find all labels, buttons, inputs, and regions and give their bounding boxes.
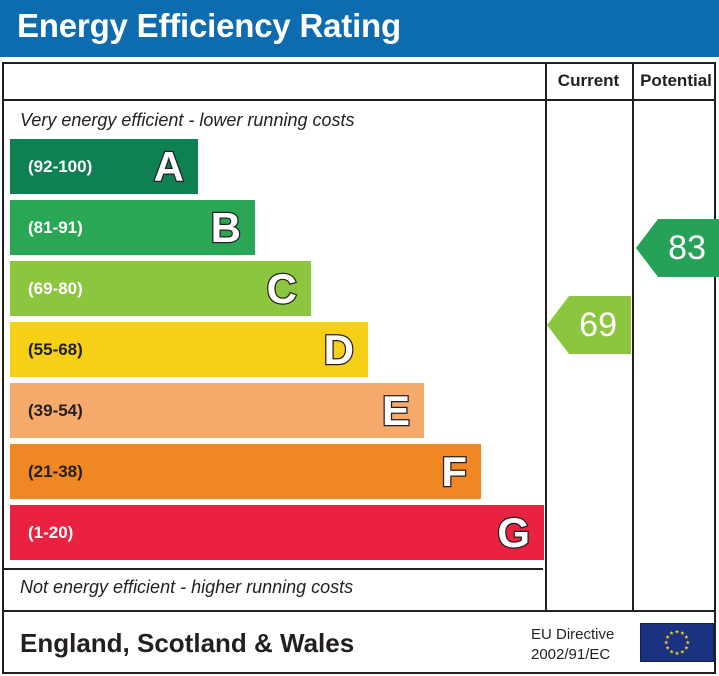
chart-footer: England, Scotland & Wales EU Directive 2…: [2, 610, 716, 674]
footer-region-label: England, Scotland & Wales: [20, 628, 354, 659]
rating-band-a: (92-100)A: [10, 139, 198, 194]
band-letter-f: F: [441, 451, 467, 493]
column-header-potential: Potential: [634, 71, 718, 91]
current-rating-arrow: 69: [547, 296, 631, 354]
column-header-current: Current: [545, 71, 632, 91]
band-letter-b: B: [211, 207, 241, 249]
current-column-divider: [545, 64, 547, 610]
band-letter-a: A: [154, 146, 184, 188]
page-title: Energy Efficiency Rating: [17, 7, 401, 45]
eu-directive-label: EU Directive 2002/91/EC: [531, 625, 614, 666]
rating-band-d: (55-68)D: [10, 322, 368, 377]
note-not-energy-efficient: Not energy efficient - higher running co…: [20, 577, 353, 598]
rating-bands: (92-100)A(81-91)B(69-80)C(55-68)D(39-54)…: [10, 139, 545, 565]
rating-band-g: (1-20)G: [10, 505, 544, 560]
band-range-f: (21-38): [28, 462, 83, 482]
chart-header-banner: Energy Efficiency Rating: [0, 0, 719, 57]
eu-flag-icon: [640, 623, 714, 662]
rating-band-e: (39-54)E: [10, 383, 424, 438]
eu-directive-line-2: 2002/91/EC: [531, 645, 614, 665]
rating-table: Current Potential Very energy efficient …: [2, 62, 716, 612]
eu-directive-line-1: EU Directive: [531, 625, 614, 645]
band-range-c: (69-80): [28, 279, 83, 299]
rating-band-f: (21-38)F: [10, 444, 481, 499]
band-letter-e: E: [382, 390, 410, 432]
band-letter-c: C: [267, 268, 297, 310]
bottom-note-divider: [4, 568, 543, 570]
potential-rating-value: 83: [668, 229, 706, 268]
band-range-d: (55-68): [28, 340, 83, 360]
band-range-e: (39-54): [28, 401, 83, 421]
band-range-g: (1-20): [28, 523, 73, 543]
header-row-divider: [4, 99, 714, 101]
band-range-a: (92-100): [28, 157, 92, 177]
note-very-energy-efficient: Very energy efficient - lower running co…: [20, 110, 355, 131]
band-letter-g: G: [497, 512, 530, 554]
potential-rating-arrow: 83: [636, 219, 719, 277]
potential-column-divider: [632, 64, 634, 610]
rating-band-c: (69-80)C: [10, 261, 311, 316]
energy-efficiency-rating-chart: Energy Efficiency Rating Current Potenti…: [0, 0, 719, 676]
rating-band-b: (81-91)B: [10, 200, 255, 255]
eu-flag-stars: [641, 624, 713, 661]
band-letter-d: D: [324, 329, 354, 371]
current-rating-value: 69: [579, 306, 617, 345]
band-range-b: (81-91): [28, 218, 83, 238]
